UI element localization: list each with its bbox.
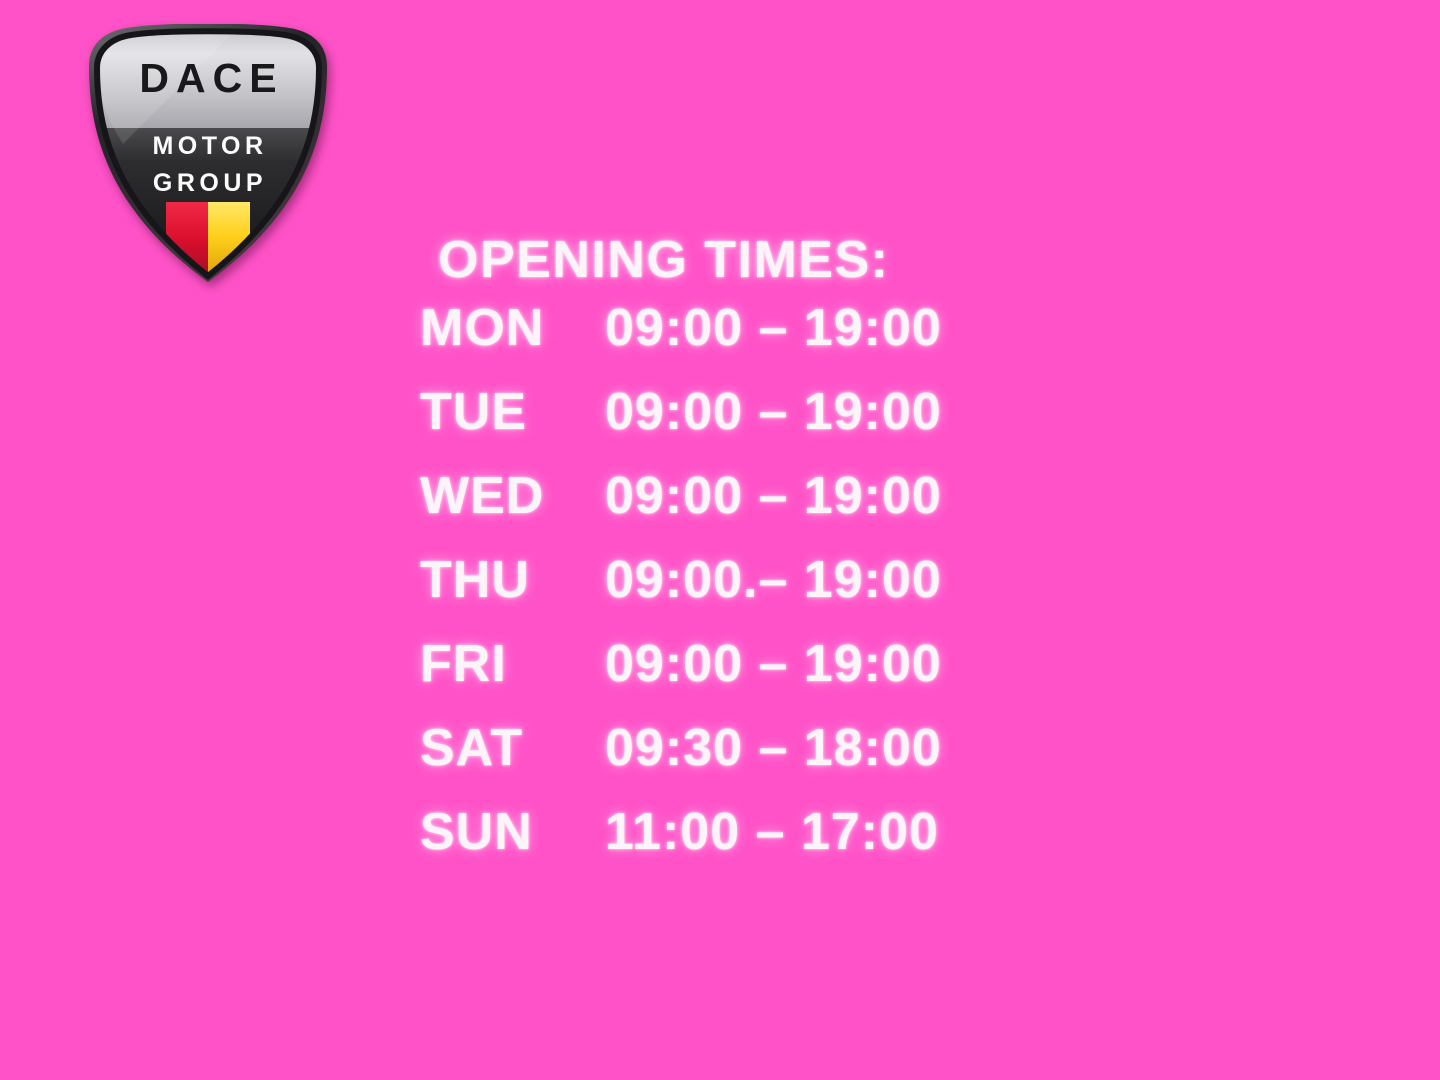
day-label: SAT (420, 722, 605, 774)
opening-times-row: MON 09:00 – 19:00 (420, 302, 1040, 386)
day-hours: 09:00 – 19:00 (605, 302, 942, 354)
day-hours: 09:30 – 18:00 (605, 722, 942, 774)
opening-times-row: FRI 09:00 – 19:00 (420, 638, 1040, 722)
day-label: SUN (420, 806, 605, 858)
opening-times-row: TUE 09:00 – 19:00 (420, 386, 1040, 470)
day-hours: 09:00 – 19:00 (605, 638, 942, 690)
opening-times-block: OPENING TIMES: MON 09:00 – 19:00 TUE 09:… (420, 232, 1040, 890)
opening-times-row: SUN 11:00 – 17:00 (420, 806, 1040, 890)
logo-brand-group: GROUP (83, 171, 333, 196)
opening-times-poster: DACE MOTOR GROUP OPENING TIMES: MON 09:0… (0, 0, 1440, 1080)
logo-brand-motor: MOTOR (83, 134, 333, 159)
day-hours: 11:00 – 17:00 (605, 806, 939, 858)
day-hours: 09:00 – 19:00 (605, 470, 942, 522)
opening-times-row: WED 09:00 – 19:00 (420, 470, 1040, 554)
day-hours: 09:00 – 19:00 (605, 386, 942, 438)
day-label: WED (420, 470, 605, 522)
opening-times-row: THU 09:00.– 19:00 (420, 554, 1040, 638)
dace-motor-group-logo: DACE MOTOR GROUP (83, 24, 333, 282)
logo-brand-name: DACE (83, 58, 333, 99)
day-label: FRI (420, 638, 605, 690)
day-label: TUE (420, 386, 605, 438)
day-label: THU (420, 554, 605, 606)
day-label: MON (420, 302, 605, 354)
opening-times-row: SAT 09:30 – 18:00 (420, 722, 1040, 806)
opening-times-heading: OPENING TIMES: (420, 232, 1040, 288)
day-hours: 09:00.– 19:00 (605, 554, 942, 606)
